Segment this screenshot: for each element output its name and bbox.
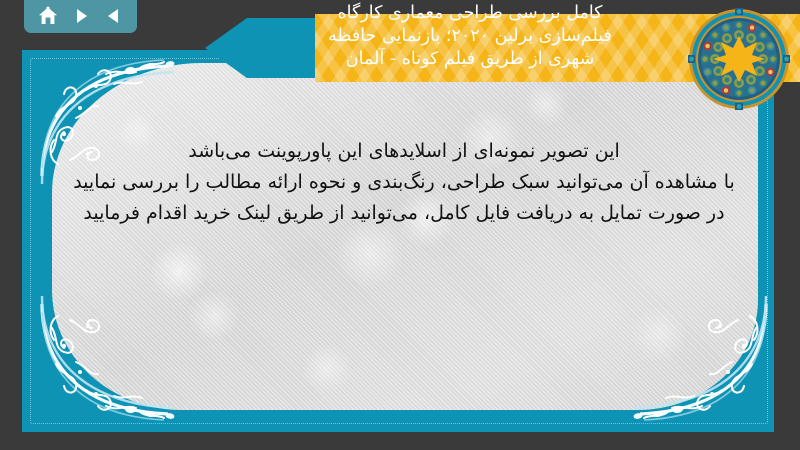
slide-stage: کامل بررسی طراحی معماری کارگاه فیلم‌سازی… <box>0 0 800 450</box>
body-line-2: با مشاهده آن می‌توانید سبک طراحی، رنگ‌بن… <box>62 167 746 198</box>
next-arrow-icon[interactable] <box>68 3 94 29</box>
home-icon[interactable] <box>35 3 61 29</box>
previous-arrow-icon[interactable] <box>101 3 127 29</box>
persian-medallion-ornament <box>688 8 790 110</box>
slide-card: این تصویر نمونه‌ای از اسلایدهای این پاور… <box>22 50 774 432</box>
slide-content-area <box>52 63 758 410</box>
banner-tab-connector <box>205 18 315 78</box>
body-line-1: این تصویر نمونه‌ای از اسلایدهای این پاور… <box>62 136 746 167</box>
navigation-bar <box>24 0 137 33</box>
body-line-3: در صورت تمایل به دریافت فایل کامل، می‌تو… <box>62 198 746 229</box>
slide-body-text: این تصویر نمونه‌ای از اسلایدهای این پاور… <box>62 136 746 228</box>
